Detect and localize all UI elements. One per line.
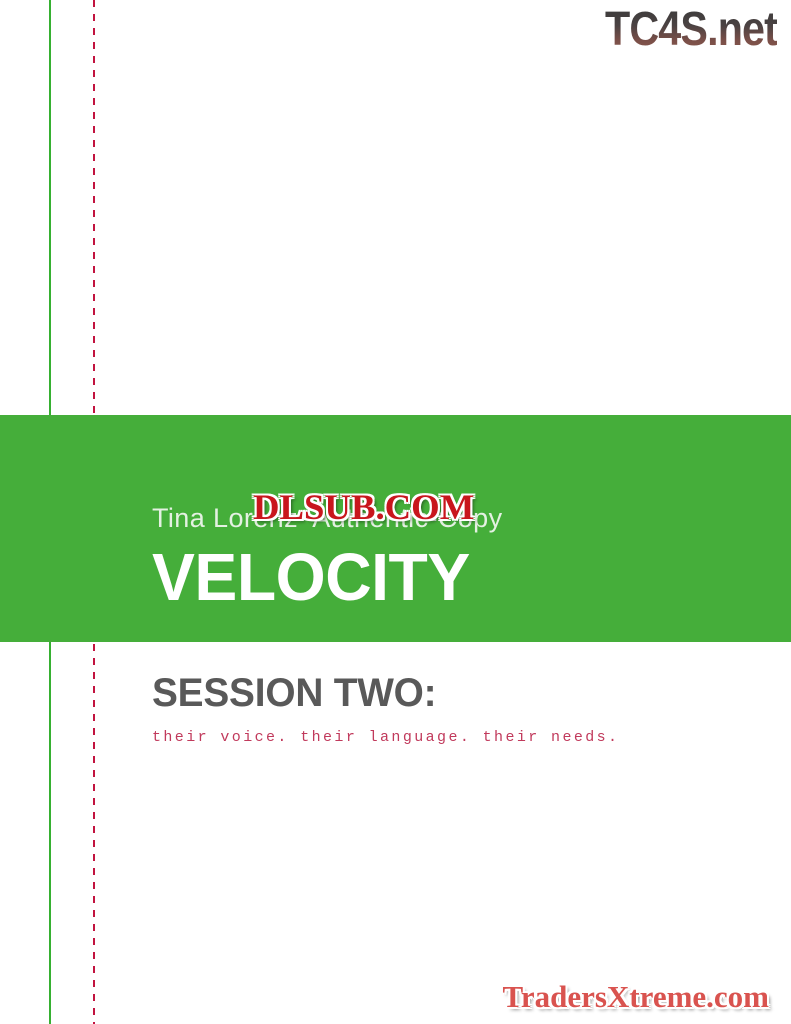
watermark-dlsub-com: DLSUB.COM (253, 489, 474, 525)
watermark-tradersxtreme-com: TradersXtreme.com (502, 981, 769, 1012)
session-heading: SESSION TWO: (152, 673, 436, 713)
watermark-tc4s-net: TC4S.net (605, 6, 777, 54)
cover-page: TC4S.net TC4S.net Tina Lorenz Authentic-… (0, 0, 791, 1024)
page-title: VELOCITY (152, 544, 690, 611)
session-subheading: their voice. their language. their needs… (152, 730, 619, 745)
